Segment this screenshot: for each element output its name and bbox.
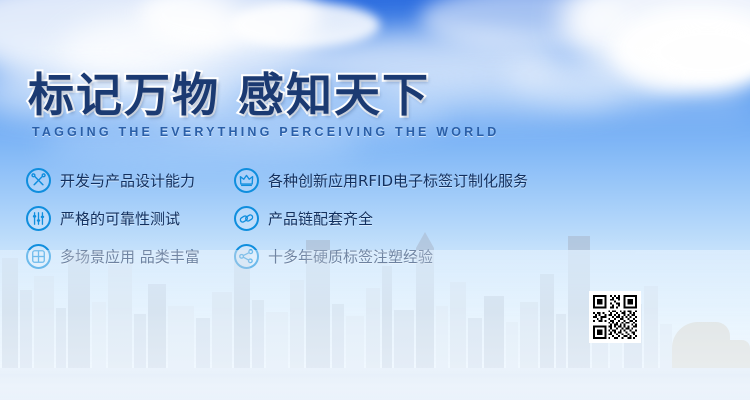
feature-item-reliability-test: 严格的可靠性测试 [26,206,180,231]
qr-code-image [591,293,639,341]
feature-item-product-chain: 产品链配套齐全 [234,206,373,231]
headline-block: 标记万物 感知天下 TAGGING THE EVERYTHING PERCEIV… [28,72,628,139]
feature-label: 严格的可靠性测试 [60,208,180,229]
page-title: 标记万物 感知天下 [28,72,628,118]
crossed-tools-icon [26,168,51,193]
page-subtitle: TAGGING THE EVERYTHING PERCEIVING THE WO… [32,125,628,139]
feature-item-rfid-custom-service: 各种创新应用RFID电子标签订制化服务 [234,168,528,193]
feature-label: 开发与产品设计能力 [60,170,195,191]
sliders-icon [26,206,51,231]
qr-code[interactable] [589,291,641,343]
feature-item-development-design: 开发与产品设计能力 [26,168,195,193]
chain-link-icon [234,206,259,231]
promo-banner: 标记万物 感知天下 TAGGING THE EVERYTHING PERCEIV… [0,0,750,400]
feature-label: 各种创新应用RFID电子标签订制化服务 [268,170,528,191]
crown-icon [234,168,259,193]
feature-label: 产品链配套齐全 [268,208,373,229]
